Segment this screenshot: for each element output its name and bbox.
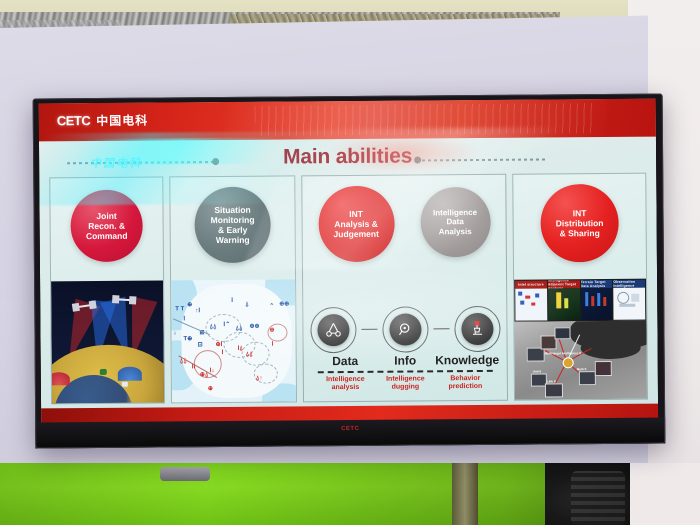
decoration-dot (414, 156, 421, 163)
cetc-logo: CETC 中国电科 (57, 112, 149, 130)
flow-link (433, 328, 449, 330)
flow-node-info[interactable] (377, 307, 433, 351)
flow-node-data[interactable] (305, 307, 361, 351)
art-tactical-map: T T ⊕ ↑Ⅰ Ⅰ ↓ T⊕ ⊡ ⊞ ⍙⍙ Ⅰ⌃ ⍙⍙ (171, 279, 296, 402)
flow-label-knowledge: Knowledge (435, 352, 495, 366)
bubble-int-distribution-sharing: INT Distribution & Sharing (540, 184, 619, 263)
map-chip (554, 327, 570, 339)
decoration-dot (212, 158, 219, 165)
logo-text-cn: 中国电科 (96, 112, 148, 129)
flow-link (361, 329, 377, 331)
header-lines (255, 103, 595, 136)
coverage-dome (51, 372, 70, 385)
art-intel-dashboard: Intel structure (514, 279, 647, 400)
flow-divider (318, 369, 493, 372)
arc-right-icon (301, 297, 365, 362)
title-decoration-left (67, 158, 217, 166)
bubble-joint-recon-command: Joint Recon. & Command (70, 190, 143, 263)
art-satellite-earth (51, 280, 164, 403)
thumbnail[interactable]: Intel structure (515, 280, 547, 320)
map-chip (595, 361, 612, 376)
thumbnail[interactable]: Observation Intelligence (613, 280, 645, 320)
map-chip (579, 371, 596, 385)
thumbnail-title: Intel structure (515, 280, 547, 288)
panel-int-distribution-sharing[interactable]: INT Distribution & Sharing Intel structu… (512, 173, 648, 401)
logo-text-en: CETC (57, 113, 91, 128)
map-chip (545, 383, 563, 397)
bubble-intelligence-data-analysis: Intelligence Data Analysis (420, 187, 491, 258)
panel-row: Joint Recon. & Command (49, 173, 648, 405)
decoration-dashes (67, 161, 217, 164)
decoration-dashes (416, 158, 546, 161)
map-label: Link II (547, 379, 556, 383)
display-screen[interactable]: CETC 中国电科 Main abilities Joint Recon. & … (33, 94, 666, 449)
flow-node-knowledge[interactable] (449, 306, 505, 350)
slide-title: Main abilities (39, 143, 656, 172)
thumbnail[interactable]: Intelligence Adjacent Target Analysis (548, 280, 580, 320)
panel-joint-recon-command[interactable]: Joint Recon. & Command (49, 176, 165, 404)
flow-sub-data: Intelligence analysis (315, 375, 375, 393)
floor-right-strip (630, 463, 700, 525)
screen-surface: CETC 中国电科 Main abilities Joint Recon. & … (39, 99, 659, 425)
thumbnail-title: Observation Intelligence (613, 280, 645, 288)
map-label: Multi-target Intelligence II (545, 351, 581, 355)
bubble-int-analysis-judgement: INT Analysis & Judgement (318, 186, 395, 263)
bezel-brand-logo: CETC (341, 426, 359, 432)
presentation-slide: CETC 中国电科 Main abilities Joint Recon. & … (39, 99, 659, 425)
panel-int-analysis-judgement[interactable]: INT Analysis & Judgement Intelligence Da… (301, 174, 508, 403)
panel-situation-monitoring[interactable]: Situation Monitoring & Early Warning (169, 175, 297, 403)
arc-right-icon (372, 297, 437, 362)
booth-photo-scene: CETC 中国电科 Main abilities Joint Recon. & … (0, 0, 700, 525)
bubble-situation-monitoring: Situation Monitoring & Early Warning (194, 187, 271, 264)
thumbnail[interactable]: Terrain Target Data Analysis (581, 280, 613, 320)
satellite-network-map: Multi-target Intelligence II Mark II Uni… (514, 321, 647, 400)
flow-sub-knowledge: Behavior prediction (435, 374, 495, 392)
floor-shadow (0, 463, 700, 525)
dashboard-thumbnails: Intel structure (514, 279, 646, 322)
data-info-knowledge-flow: Data Info Knowledge Intelligence analysi… (303, 306, 507, 393)
display-bezel-bottom: CETC (35, 418, 665, 449)
network-hub-node (563, 357, 574, 368)
thumbnail-title: Terrain Target Data Analysis (581, 280, 613, 288)
map-chip (527, 347, 545, 361)
coverage-dome (118, 367, 142, 381)
arc-right-icon (444, 296, 508, 361)
map-label: Unit II (533, 369, 541, 373)
flow-labels: Data Info Knowledge (304, 352, 507, 368)
flow-sublabels: Intelligence analysis Intelligence duggi… (304, 374, 507, 393)
flow-label-info: Info (375, 353, 435, 367)
flow-label-data: Data (315, 353, 375, 367)
map-label: Mark II (577, 367, 587, 371)
flow-sub-info: Intelligence dugging (375, 375, 435, 393)
flow-nodes (303, 306, 506, 352)
thumbnail-title: Intelligence Adjacent Target Analysis (548, 280, 580, 288)
title-decoration-right (416, 155, 546, 163)
